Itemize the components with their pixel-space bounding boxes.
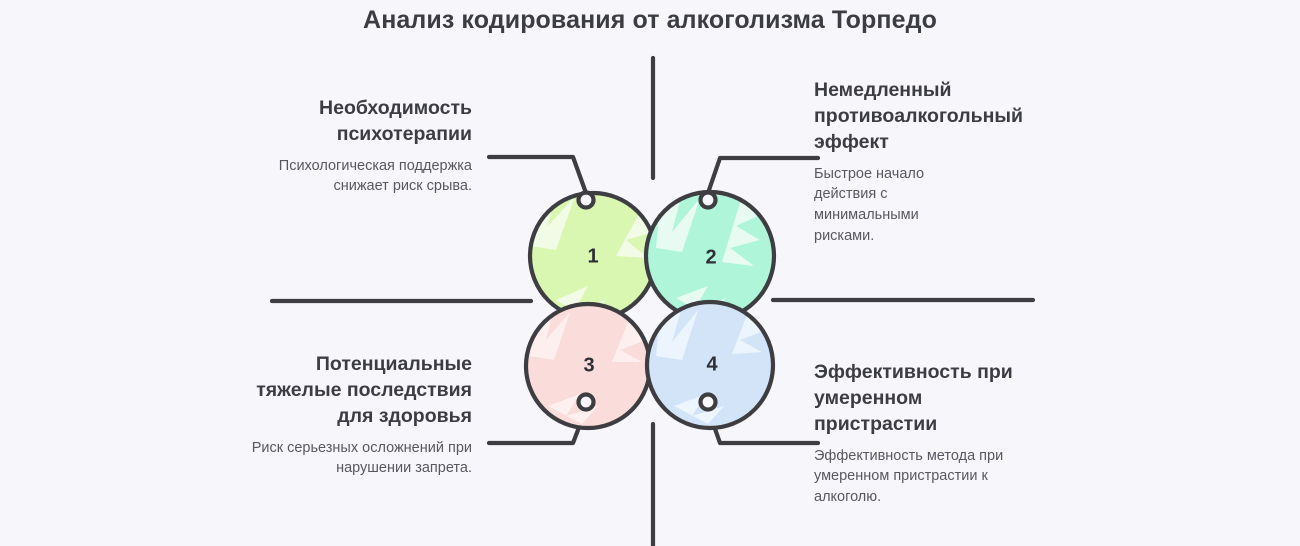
connector-node-1: [579, 193, 594, 208]
connector-1: [489, 157, 586, 193]
diagram-graphics: [0, 0, 1300, 546]
info-block-2-heading: Немедленный противоалкогольный эффект: [814, 78, 1064, 156]
info-block-1-body: Психологическая поддержка снижает риск с…: [250, 156, 472, 197]
connector-node-2: [701, 193, 716, 208]
info-block-3-heading: Потенциальные тяжелые последствия для зд…: [248, 352, 472, 430]
connector-node-3: [579, 395, 594, 410]
connector-2: [708, 158, 818, 193]
info-block-4: Эффективность при умеренном пристрастии …: [814, 360, 1046, 508]
info-block-1-heading: Необходимость психотерапии: [250, 96, 472, 148]
diagram-canvas: Анализ кодирования от алкоголизма Торпед…: [0, 0, 1300, 546]
info-block-4-body: Эффективность метода при умеренном прист…: [814, 446, 1010, 508]
info-block-1: Необходимость психотерапии Психологическ…: [250, 96, 472, 197]
info-block-2-body: Быстрое начало действия с минимальными р…: [814, 164, 962, 246]
connector-node-4: [701, 395, 716, 410]
info-block-4-heading: Эффективность при умеренном пристрастии: [814, 360, 1046, 438]
info-block-2: Немедленный противоалкогольный эффект Бы…: [814, 78, 1064, 246]
info-block-3-body: Риск серьезных осложнений при нарушении …: [248, 438, 472, 479]
info-block-3: Потенциальные тяжелые последствия для зд…: [248, 352, 472, 479]
